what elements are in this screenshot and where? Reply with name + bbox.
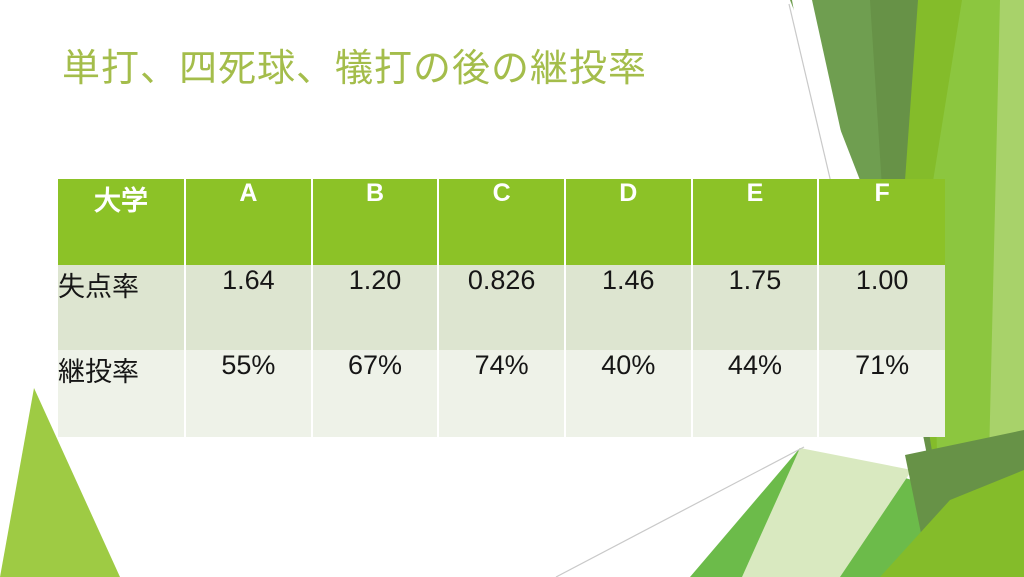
row-label-keitouritsu: 継投率 <box>58 350 185 437</box>
cell-keitouritsu-f: 71% <box>818 350 945 437</box>
table-header: 大学 A B C D E F <box>58 179 945 265</box>
column-header-d: D <box>565 179 692 265</box>
column-header-b: B <box>312 179 439 265</box>
cell-shitsutenritsu-a: 1.64 <box>185 265 312 350</box>
cell-shitsutenritsu-b: 1.20 <box>312 265 439 350</box>
shape-bright-bottom <box>880 470 1024 577</box>
cell-keitouritsu-e: 44% <box>692 350 819 437</box>
cell-keitouritsu-d: 40% <box>565 350 692 437</box>
table-row: 失点率 1.64 1.20 0.826 1.46 1.75 1.00 <box>58 265 945 350</box>
cell-keitouritsu-c: 74% <box>438 350 565 437</box>
table-header-row: 大学 A B C D E F <box>58 179 945 265</box>
cell-shitsutenritsu-f: 1.00 <box>818 265 945 350</box>
column-header-c: C <box>438 179 565 265</box>
cell-keitouritsu-a: 55% <box>185 350 312 437</box>
shape-olive-bottom <box>905 430 1024 577</box>
shape-pale-sliver <box>988 0 1024 577</box>
stats-table: 大学 A B C D E F 失点率 1.64 1.20 0.826 1.46 … <box>58 179 945 437</box>
cell-keitouritsu-b: 67% <box>312 350 439 437</box>
cell-shitsutenritsu-d: 1.46 <box>565 265 692 350</box>
column-header-label: 大学 <box>58 179 185 265</box>
column-header-a: A <box>185 179 312 265</box>
row-label-shitsutenritsu: 失点率 <box>58 265 185 350</box>
hairline-bottom <box>556 447 804 577</box>
table-row: 継投率 55% 67% 74% 40% 44% 71% <box>58 350 945 437</box>
cell-shitsutenritsu-e: 1.75 <box>692 265 819 350</box>
column-header-e: E <box>692 179 819 265</box>
cell-shitsutenritsu-c: 0.826 <box>438 265 565 350</box>
shape-mint-bottom <box>742 448 912 577</box>
column-header-f: F <box>818 179 945 265</box>
page-title: 単打、四死球、犠打の後の継投率 <box>62 46 647 94</box>
table-body: 失点率 1.64 1.20 0.826 1.46 1.75 1.00 継投率 5… <box>58 265 945 437</box>
slide-canvas: 単打、四死球、犠打の後の継投率 大学 A B C D E F 失点率 1.64 … <box>0 0 1024 577</box>
shape-leaf-bottom <box>690 448 1024 577</box>
